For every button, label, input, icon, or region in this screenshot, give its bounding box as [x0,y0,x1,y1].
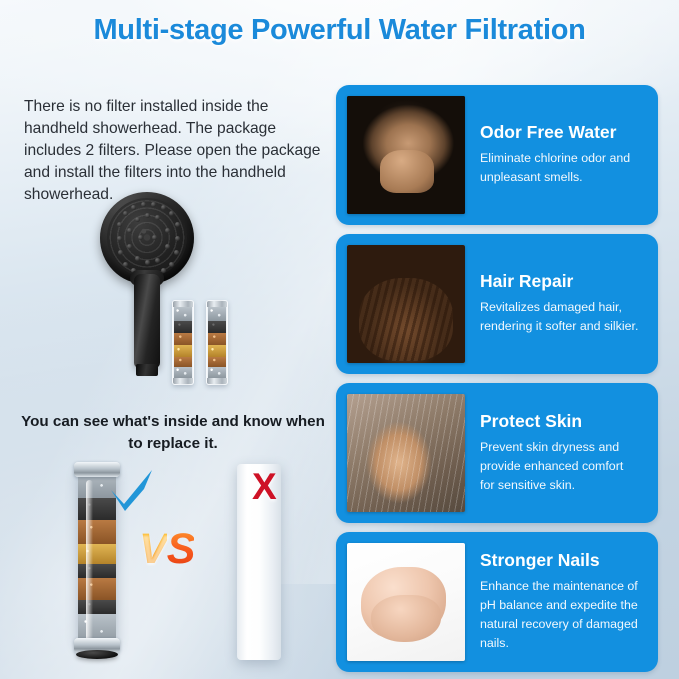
page-title: Multi-stage Powerful Water Filtration [0,14,679,47]
woman-in-shower-image [347,394,465,512]
feature-card-title: Hair Repair [480,272,641,291]
feature-card-description: Prevent skin dryness and provide enhance… [480,438,641,495]
vs-letter-v: V [139,525,167,573]
feature-card-description: Revitalizes damaged hair, rendering it s… [480,298,641,336]
feature-card-list: Odor Free Water Eliminate chlorine odor … [336,85,658,679]
feature-thumbnail-odor [347,96,465,214]
filter-cap-bottom [207,378,227,384]
filter-layer-silver-2 [174,367,192,378]
x-icon: X [252,466,277,508]
feature-card-odor-free-water[interactable]: Odor Free Water Eliminate chlorine odor … [336,85,658,225]
filter-layer-copper-2 [174,357,192,367]
feature-card-title: Stronger Nails [480,551,641,570]
comparison-subheading: You can see what's inside and know when … [16,411,330,454]
filter-layer-copper [208,333,226,345]
feature-card-text: Odor Free Water Eliminate chlorine odor … [465,123,647,187]
filter-layer-carbon [208,321,226,333]
filter-layer-copper [174,333,192,345]
filter-layer-copper-2 [78,578,116,600]
filter-layer-gold [208,345,226,357]
feature-card-description: Enhance the maintenance of pH balance an… [480,577,641,652]
filter-layer-carbon [174,321,192,333]
vs-letter-s: S [167,525,195,573]
showerhead-hose-connector [136,364,158,376]
feature-card-title: Protect Skin [480,412,641,431]
filter-layer-carbon-3 [78,600,116,614]
replacement-filter-1 [172,300,194,385]
hands-with-water-image [347,543,465,661]
man-covering-nose-image [347,96,465,214]
feature-card-text: Hair Repair Revitalizes damaged hair, re… [465,272,647,336]
filter-o-ring [76,650,118,659]
feature-thumbnail-nails [347,543,465,661]
feature-card-stronger-nails[interactable]: Stronger Nails Enhance the maintenance o… [336,532,658,672]
filter-layer-silver [174,307,192,321]
feature-card-hair-repair[interactable]: Hair Repair Revitalizes damaged hair, re… [336,234,658,374]
showerhead-nozzle-dots [107,198,187,277]
feature-card-title: Odor Free Water [480,123,641,142]
feature-card-text: Protect Skin Prevent skin dryness and pr… [465,412,647,495]
woman-long-hair-image [347,245,465,363]
feature-card-text: Stronger Nails Enhance the maintenance o… [465,551,647,653]
filter-cap-bottom [173,378,193,384]
filter-layer-gold-1 [78,544,116,564]
showerhead-handle [134,274,160,368]
filter-layer-silver-2 [208,367,226,378]
feature-thumbnail-skin [347,394,465,512]
feature-card-description: Eliminate chlorine odor and unpleasant s… [480,149,641,187]
filter-layer-carbon-2 [78,564,116,578]
feature-thumbnail-hair [347,245,465,363]
filter-layer-gold [174,345,192,357]
feature-card-protect-skin[interactable]: Protect Skin Prevent skin dryness and pr… [336,383,658,523]
infographic-page: Multi-stage Powerful Water Filtration Th… [0,0,679,679]
vs-label: VS [139,528,194,571]
intro-paragraph: There is no filter installed inside the … [24,96,324,207]
filter-layer-silver [208,307,226,321]
filter-layer-copper-2 [208,357,226,367]
check-icon [108,468,156,512]
replacement-filter-2 [206,300,228,385]
filter-layer-copper-1 [78,520,116,544]
filter-glass-highlight [86,480,93,644]
